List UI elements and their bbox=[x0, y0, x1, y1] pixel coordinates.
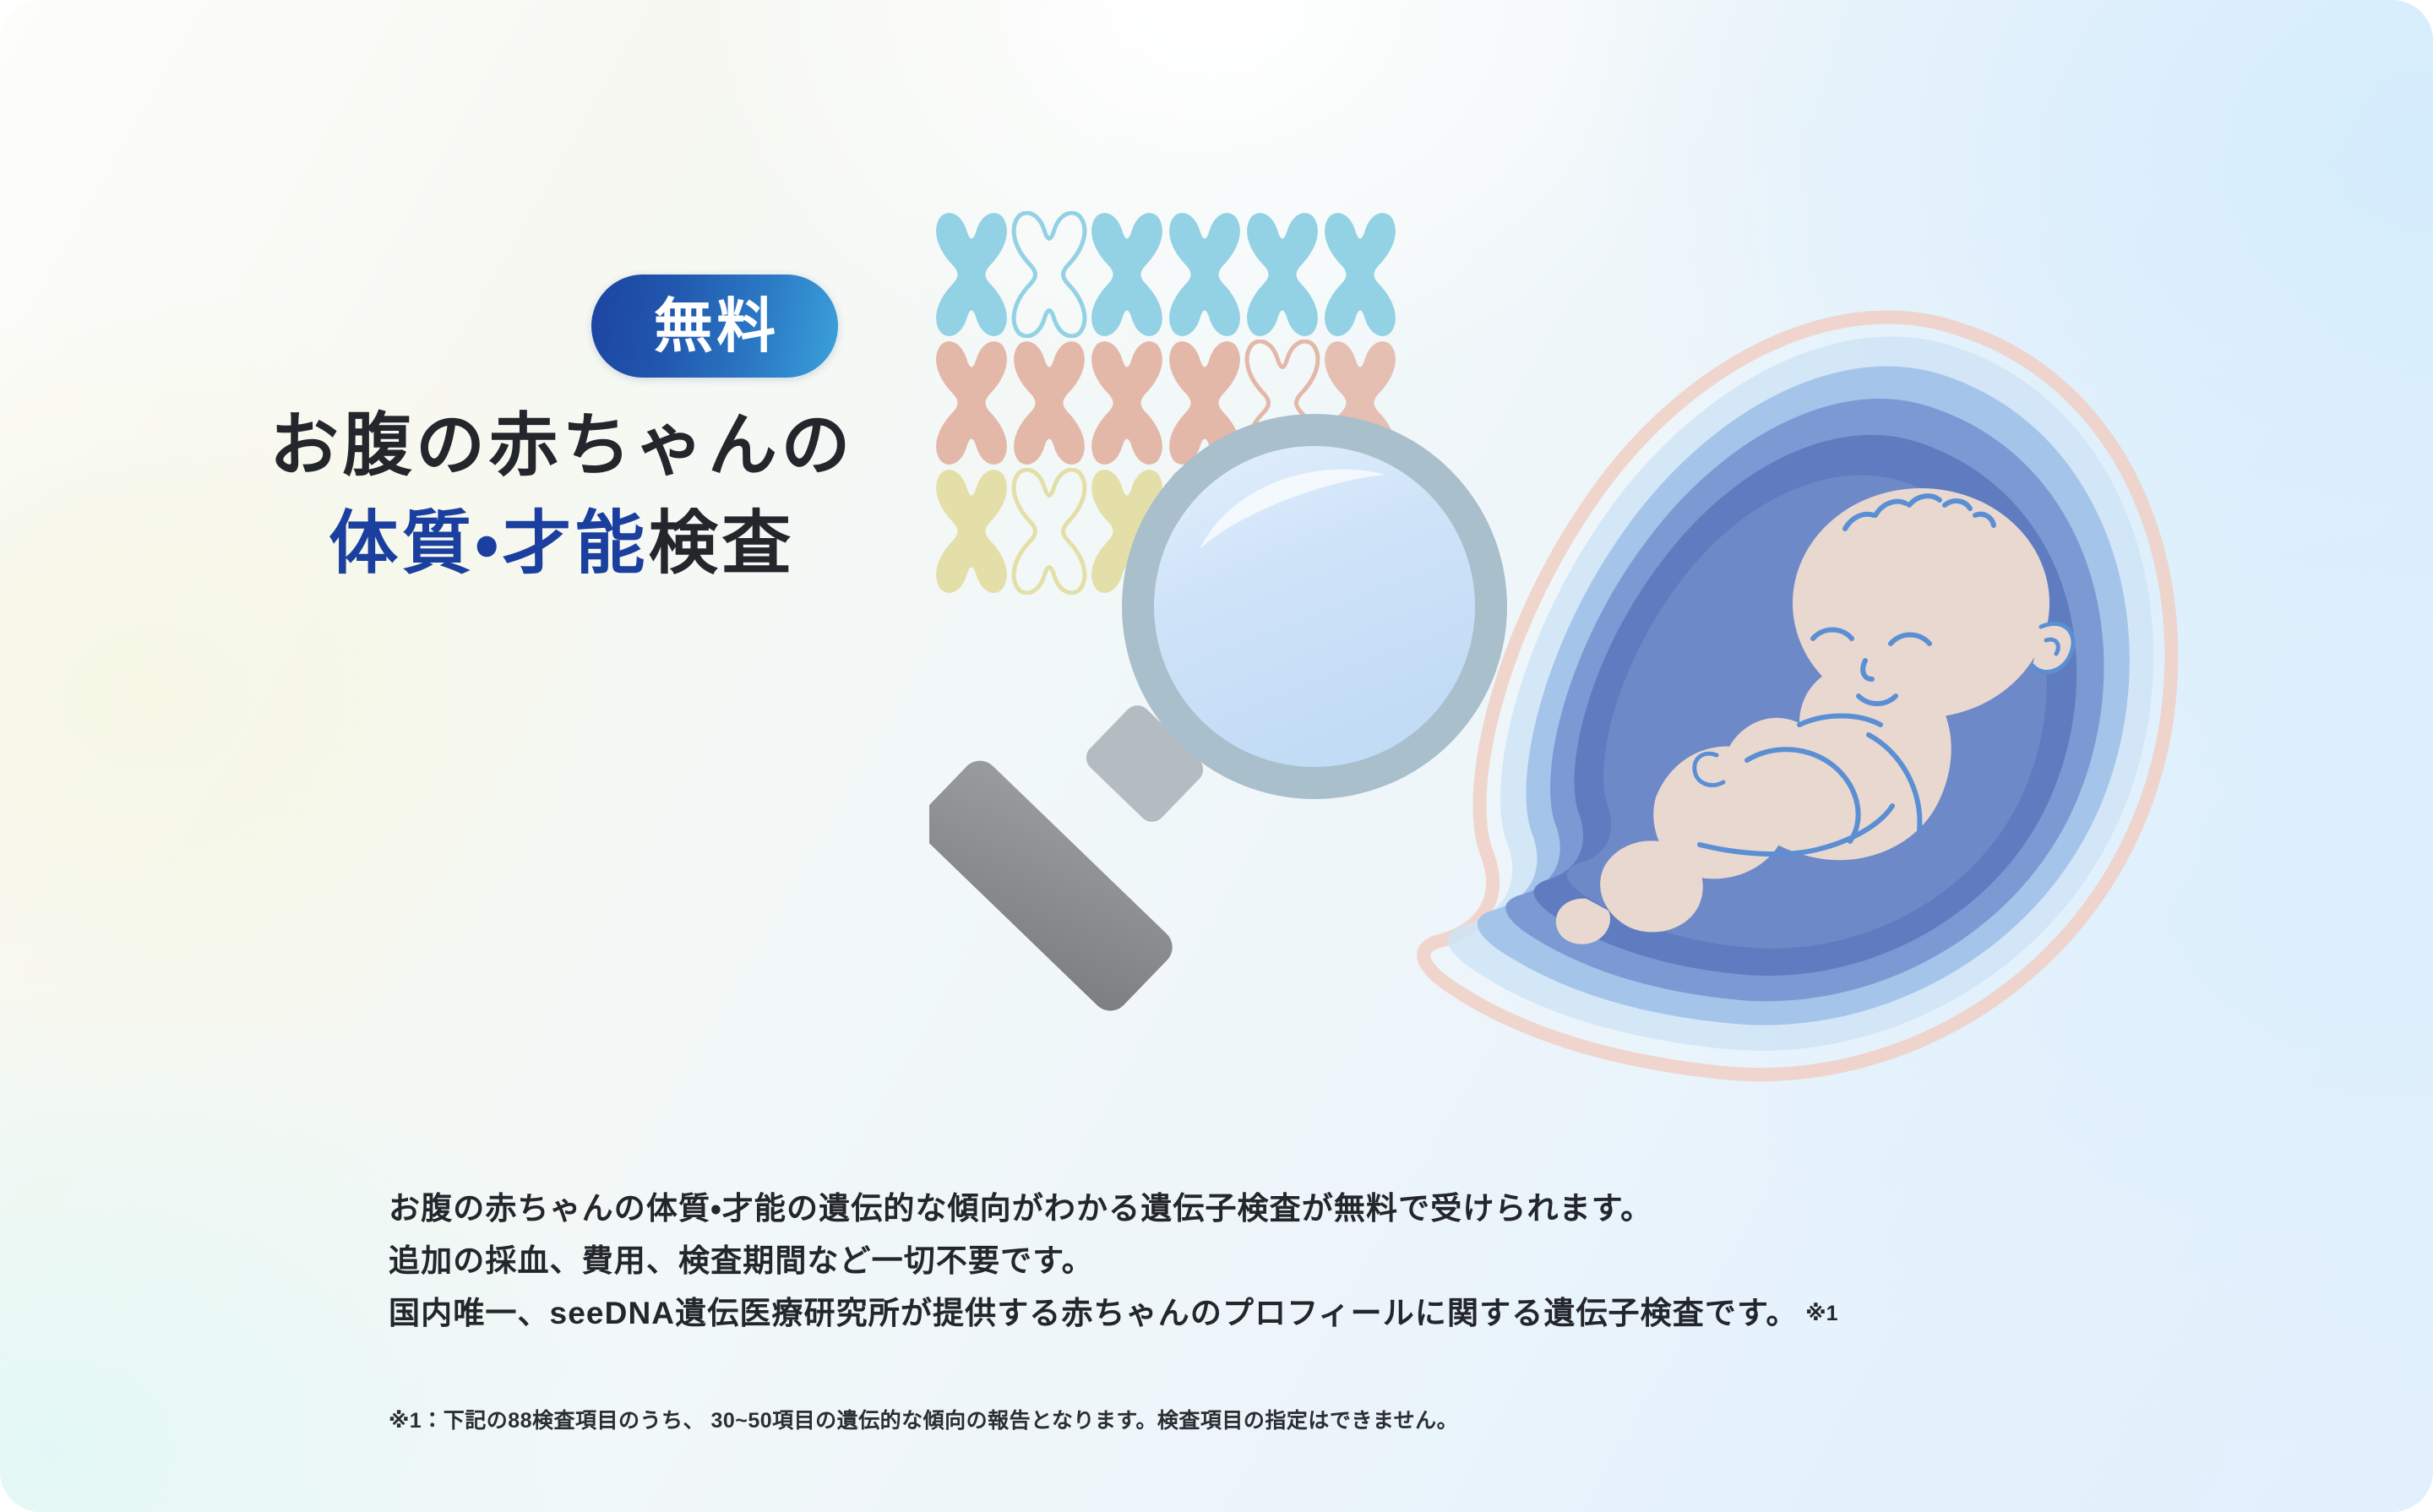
page-title-suffix: 検査 bbox=[649, 505, 795, 582]
page-title-accent: 体質・才能 bbox=[329, 505, 648, 582]
magnifier-lens bbox=[1154, 446, 1475, 767]
womb-layers bbox=[1423, 318, 2171, 1075]
body-copy-line-2: 追加の採血、費用、検査期間など一切不要です。 bbox=[389, 1235, 2332, 1287]
promo-card: 無料 お腹の赤ちゃんの 体質・才能検査 bbox=[0, 0, 2433, 1512]
body-copy-line-3: 国内唯一、seeDNA遺伝医療研究所が提供する赤ちゃんのプロフィールに関する遺伝… bbox=[389, 1287, 2332, 1340]
footnote: ※1：下記の88検査項目のうち、 30~50項目の遺伝的な傾向の報告となります。… bbox=[389, 1404, 2332, 1434]
body-copy-line-3-text: 国内唯一、seeDNA遺伝医療研究所が提供する赤ちゃんのプロフィールに関する遺伝… bbox=[389, 1296, 1799, 1330]
baby-head bbox=[1793, 488, 2049, 718]
body-copy-line-1: お腹の赤ちゃんの体質・才能の遺伝的な傾向がわかる遺伝子検査が無料で受けられます。 bbox=[389, 1183, 2332, 1235]
body-copy: お腹の赤ちゃんの体質・才能の遺伝的な傾向がわかる遺伝子検査が無料で受けられます。… bbox=[389, 1183, 2332, 1340]
free-badge: 無料 bbox=[591, 275, 838, 378]
footnote-reference-marker: ※1 bbox=[1805, 1302, 1837, 1325]
fetus-chromosome-magnifier-illustration bbox=[929, 211, 2365, 1157]
free-badge-label: 無料 bbox=[650, 296, 780, 356]
chromosome-row-blue bbox=[936, 213, 1396, 336]
